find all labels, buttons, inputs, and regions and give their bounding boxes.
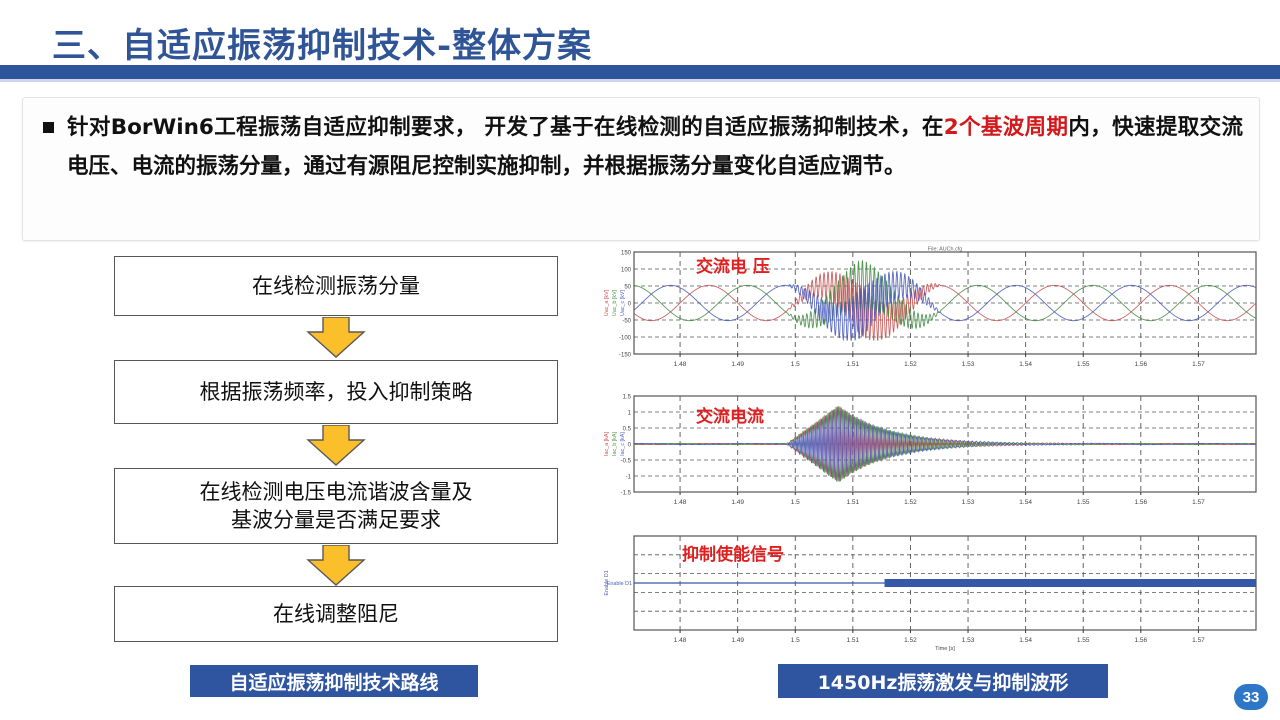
y-axis-series-label: Uac_a [kV] (604, 289, 610, 316)
y-tick-label: 150 (621, 250, 632, 256)
flow-arrow-down-1 (302, 317, 370, 359)
scope-panel-ac-voltage[interactable]: 1.481.491.51.511.521.531.541.551.561.571… (596, 246, 1264, 376)
bullet-square-icon (43, 122, 54, 133)
flow-step-2[interactable]: 根据振荡频率，投入抑制策略 (114, 360, 558, 424)
x-tick-label: 1.52 (904, 499, 917, 506)
x-tick-label: 1.53 (962, 637, 975, 644)
y-tick-label: 100 (621, 267, 632, 273)
x-tick-label: 1.49 (731, 361, 744, 368)
x-tick-label: 1.53 (962, 361, 975, 368)
flow-caption: 自适应振荡抑制技术路线 (190, 665, 478, 697)
x-tick-label: 1.48 (674, 637, 687, 644)
x-tick-label: 1.56 (1134, 361, 1147, 368)
flow-step-3[interactable]: 在线检测电压电流谐波含量及 基波分量是否满足要求 (114, 468, 558, 544)
x-tick-label: 1.56 (1134, 637, 1147, 644)
x-tick-label: 1.54 (1019, 499, 1032, 506)
x-tick-label: 1.54 (1019, 361, 1032, 368)
x-tick-label: 1.56 (1134, 499, 1147, 506)
y-tick-label: -150 (619, 352, 632, 358)
y-axis-series-label: Uac_c [kV] (620, 289, 626, 316)
flow-step-3-label-line1: 在线检测电压电流谐波含量及 (200, 478, 473, 506)
x-tick-label: 1.54 (1019, 637, 1032, 644)
x-tick-label: 1.5 (791, 361, 800, 368)
y-tick-label: -1 (626, 474, 632, 480)
body-text-highlight: 2个基波周期 (944, 115, 1069, 140)
y-tick-label: 1 (628, 410, 632, 416)
enable-signal-label: Enable D1 (607, 581, 632, 587)
flow-step-1-label: 在线检测振荡分量 (252, 272, 420, 300)
body-text-part-1: 针对BorWin6工程振荡自适应抑制要求， 开发了基于在线检测的自适应振荡抑制技… (67, 115, 944, 140)
x-tick-label: 1.53 (962, 499, 975, 506)
flow-step-1[interactable]: 在线检测振荡分量 (114, 256, 558, 316)
x-tick-label: 1.51 (847, 499, 860, 506)
scope-annotation: 交流电 压 (696, 256, 770, 277)
waveform-scope-area: 1.481.491.51.511.521.531.541.551.561.571… (596, 246, 1264, 652)
y-tick-label: -50 (622, 318, 631, 324)
flow-arrow-down-3 (302, 545, 370, 587)
scope-annotation: 交流电流 (696, 406, 764, 427)
x-tick-label: 1.57 (1192, 637, 1205, 644)
flow-step-2-label: 根据振荡频率，投入抑制策略 (200, 378, 473, 406)
x-tick-label: 1.51 (847, 361, 860, 368)
y-axis-series-label: Iac_b [kA] (612, 432, 618, 456)
flow-step-4[interactable]: 在线调整阻尼 (114, 586, 558, 642)
y-axis-series-label: Iac_c [kA] (620, 432, 626, 456)
title-rule-accent (0, 79, 1280, 82)
x-tick-label: 1.55 (1077, 637, 1090, 644)
y-tick-label: -1.5 (621, 490, 632, 496)
y-tick-label: 0 (628, 301, 632, 307)
x-tick-label: 1.51 (847, 637, 860, 644)
x-tick-label: 1.48 (674, 361, 687, 368)
x-tick-label: 1.52 (904, 637, 917, 644)
flow-arrow-down-2 (302, 425, 370, 467)
x-tick-label: 1.48 (674, 499, 687, 506)
x-axis-label: Time [s] (935, 646, 955, 652)
scope-panel-ac-current[interactable]: 1.481.491.51.511.521.531.541.551.561.571… (596, 390, 1264, 514)
body-paragraph: 针对BorWin6工程振荡自适应抑制要求， 开发了基于在线检测的自适应振荡抑制技… (67, 108, 1243, 186)
body-text-card: 针对BorWin6工程振荡自适应抑制要求， 开发了基于在线检测的自适应振荡抑制技… (22, 97, 1260, 241)
x-tick-label: 1.5 (791, 637, 800, 644)
page-number-badge: 33 (1234, 684, 1268, 710)
y-tick-label: 50 (624, 284, 631, 290)
x-tick-label: 1.52 (904, 361, 917, 368)
y-axis-series-label: Uac_b [kV] (612, 289, 618, 316)
x-tick-label: 1.5 (791, 499, 800, 506)
x-tick-label: 1.49 (731, 499, 744, 506)
y-tick-label: -100 (619, 335, 632, 341)
flow-step-4-label: 在线调整阻尼 (273, 600, 399, 628)
x-tick-label: 1.57 (1192, 361, 1205, 368)
y-tick-label: -0.5 (621, 458, 632, 464)
page-title: 三、自适应振荡抑制技术-整体方案 (52, 18, 592, 67)
scope-caption: 1450Hz振荡激发与抑制波形 (778, 664, 1108, 698)
y-axis-series-label: Iac_a [kA] (604, 432, 610, 456)
y-tick-label: 1.5 (623, 394, 632, 400)
title-rule (0, 65, 1280, 79)
scope-annotation: 抑制使能信号 (682, 544, 784, 565)
y-tick-label: 0.5 (623, 426, 632, 432)
scope-panel-enable-signal[interactable]: 1.481.491.51.511.521.531.541.551.561.57E… (596, 530, 1264, 652)
x-tick-label: 1.57 (1192, 499, 1205, 506)
x-tick-label: 1.55 (1077, 361, 1090, 368)
flow-step-3-label-line2: 基波分量是否满足要求 (200, 506, 473, 534)
x-tick-label: 1.49 (731, 637, 744, 644)
y-tick-label: 0 (628, 442, 632, 448)
x-tick-label: 1.55 (1077, 499, 1090, 506)
scope-file-label: File: AUCh.cfg (928, 247, 962, 253)
